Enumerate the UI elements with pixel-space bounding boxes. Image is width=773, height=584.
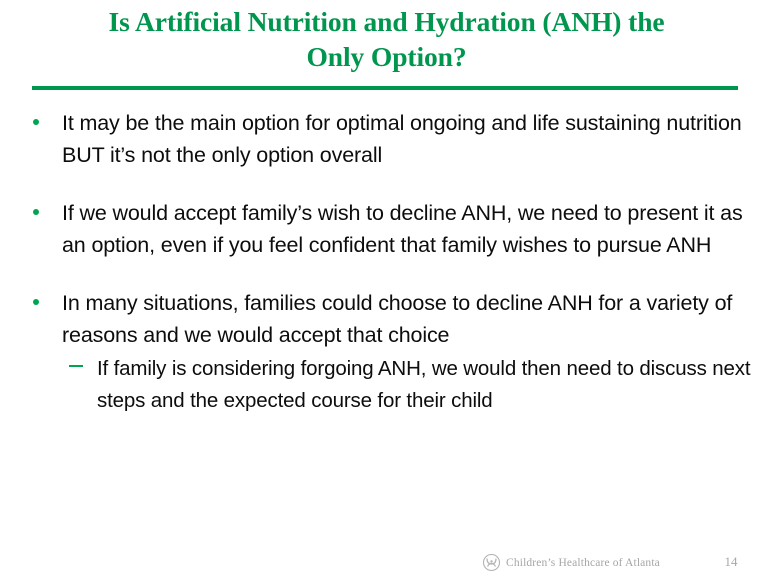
- title-divider-rule: [32, 86, 738, 90]
- page-number: 14: [718, 554, 744, 570]
- slide-title: Is Artificial Nutrition and Hydration (A…: [32, 4, 741, 74]
- bullet-item-1: It may be the main option for optimal on…: [0, 107, 773, 171]
- slide-body: It may be the main option for optimal on…: [0, 107, 773, 417]
- title-line-1: Is Artificial Nutrition and Hydration (A…: [32, 4, 741, 39]
- bullet-text-1: It may be the main option for optimal on…: [62, 111, 742, 167]
- bullet-dash-icon: [69, 353, 89, 385]
- title-line-2: Only Option?: [32, 39, 741, 74]
- bullet-dot-icon: [33, 107, 51, 139]
- sub-bullet-item-3-1: If family is considering forgoing ANH, w…: [0, 353, 773, 417]
- footer-brand-group: Children’s Healthcare of Atlanta: [483, 554, 660, 571]
- bullet-text-3: In many situations, families could choos…: [62, 291, 732, 347]
- slide-footer: Children’s Healthcare of Atlanta 14: [0, 552, 773, 578]
- childrens-healthcare-of-atlanta-logo-icon: [483, 554, 500, 571]
- sub-bullet-text-3-1: If family is considering forgoing ANH, w…: [97, 357, 750, 412]
- footer-brand-text: Children’s Healthcare of Atlanta: [506, 557, 660, 569]
- bullet-dot-icon: [33, 197, 51, 229]
- bullet-text-2: If we would accept family’s wish to decl…: [62, 201, 743, 257]
- bullet-dot-icon: [33, 287, 51, 319]
- bullet-item-3: In many situations, families could choos…: [0, 287, 773, 351]
- bullet-item-2: If we would accept family’s wish to decl…: [0, 197, 773, 261]
- slide-canvas: Is Artificial Nutrition and Hydration (A…: [0, 0, 773, 584]
